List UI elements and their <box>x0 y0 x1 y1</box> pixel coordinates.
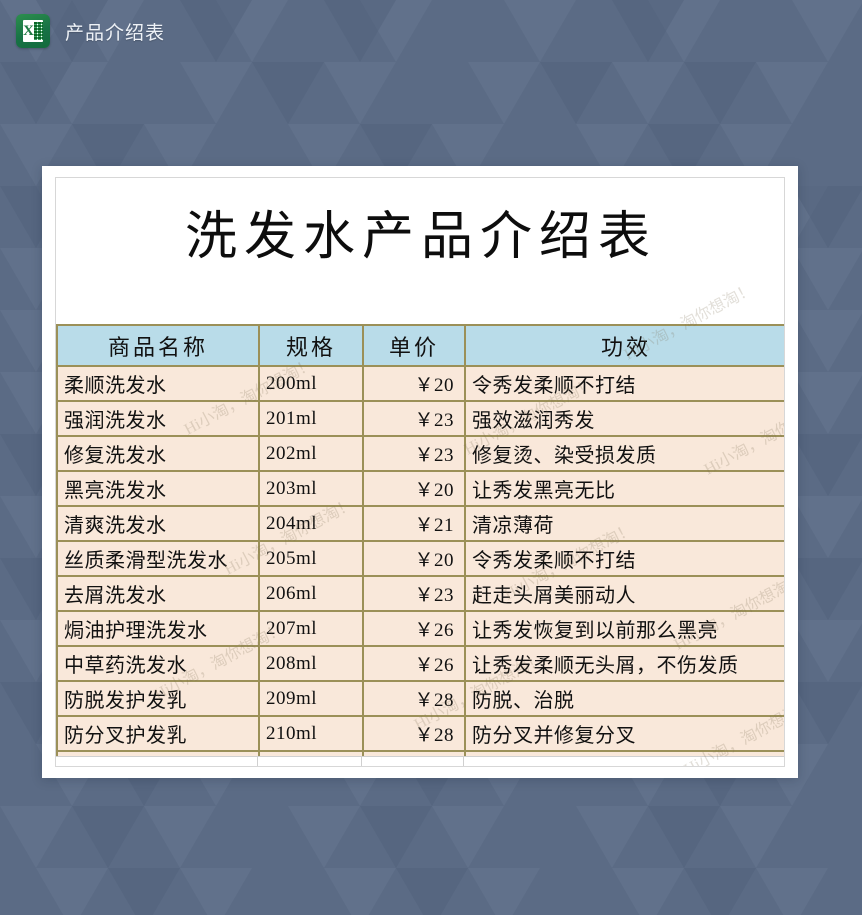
window-titlebar: X 产品介绍表 <box>0 0 862 62</box>
cell-name[interactable]: 去屑洗发水 <box>57 576 259 611</box>
cell-price[interactable]: ￥20 <box>363 366 465 401</box>
cell-name[interactable]: 强润洗发水 <box>57 401 259 436</box>
cell-func[interactable]: 清凉薄荷 <box>465 506 785 541</box>
table-header-row: 商品名称 规格 单价 功效 <box>57 325 785 366</box>
empty-cell[interactable] <box>56 757 258 767</box>
cell-spec[interactable]: 205ml <box>259 541 363 576</box>
empty-sheet-row[interactable] <box>56 756 785 767</box>
cell-price[interactable]: ￥28 <box>363 716 465 751</box>
cell-name[interactable]: 黑亮洗发水 <box>57 471 259 506</box>
cell-spec[interactable]: 208ml <box>259 646 363 681</box>
cell-spec[interactable]: 210ml <box>259 716 363 751</box>
cell-price[interactable]: ￥26 <box>363 611 465 646</box>
cell-name[interactable]: 柔顺洗发水 <box>57 366 259 401</box>
spreadsheet-sheet: Hi小淘，淘你想淘！ Hi小淘，淘你想淘！ Hi小淘，淘你想淘！ Hi小淘，淘你… <box>55 177 785 767</box>
cell-name[interactable]: 防脱发护发乳 <box>57 681 259 716</box>
cell-func[interactable]: 防脱、治脱 <box>465 681 785 716</box>
cell-name[interactable]: 防分叉护发乳 <box>57 716 259 751</box>
table-row[interactable]: 修复洗发水202ml￥23修复烫、染受损发质 <box>57 436 785 471</box>
cell-spec[interactable]: 209ml <box>259 681 363 716</box>
cell-spec[interactable]: 200ml <box>259 366 363 401</box>
cell-price[interactable]: ￥28 <box>363 681 465 716</box>
table-row[interactable]: 焗油护理洗发水207ml￥26让秀发恢复到以前那么黑亮 <box>57 611 785 646</box>
table-row[interactable]: 防脱发护发乳209ml￥28防脱、治脱 <box>57 681 785 716</box>
table-row[interactable]: 清爽洗发水204ml￥21清凉薄荷 <box>57 506 785 541</box>
cell-price[interactable]: ￥20 <box>363 541 465 576</box>
page-title: 产品介绍表 <box>65 18 165 45</box>
cell-func[interactable]: 修复烫、染受损发质 <box>465 436 785 471</box>
cell-func[interactable]: 令秀发柔顺不打结 <box>465 366 785 401</box>
cell-func[interactable]: 强效滋润秀发 <box>465 401 785 436</box>
cell-price[interactable]: ￥23 <box>363 401 465 436</box>
table-row[interactable]: 防分叉护发乳210ml￥28防分叉并修复分叉 <box>57 716 785 751</box>
empty-cell[interactable] <box>258 757 362 767</box>
table-row[interactable]: 丝质柔滑型洗发水205ml￥20令秀发柔顺不打结 <box>57 541 785 576</box>
table-row[interactable]: 去屑洗发水206ml￥23赶走头屑美丽动人 <box>57 576 785 611</box>
product-table: 商品名称 规格 单价 功效 柔顺洗发水200ml￥20令秀发柔顺不打结强润洗发水… <box>56 324 785 767</box>
cell-spec[interactable]: 206ml <box>259 576 363 611</box>
table-row[interactable]: 强润洗发水201ml￥23强效滋润秀发 <box>57 401 785 436</box>
document-card: Hi小淘，淘你想淘！ Hi小淘，淘你想淘！ Hi小淘，淘你想淘！ Hi小淘，淘你… <box>42 166 798 778</box>
column-header-spec: 规格 <box>259 325 363 366</box>
cell-spec[interactable]: 204ml <box>259 506 363 541</box>
cell-func[interactable]: 让秀发黑亮无比 <box>465 471 785 506</box>
cell-func[interactable]: 让秀发柔顺无头屑，不伤发质 <box>465 646 785 681</box>
cell-price[interactable]: ￥21 <box>363 506 465 541</box>
cell-price[interactable]: ￥23 <box>363 576 465 611</box>
empty-cell[interactable] <box>362 757 464 767</box>
table-row[interactable]: 柔顺洗发水200ml￥20令秀发柔顺不打结 <box>57 366 785 401</box>
cell-price[interactable]: ￥20 <box>363 471 465 506</box>
table-row[interactable]: 黑亮洗发水203ml￥20让秀发黑亮无比 <box>57 471 785 506</box>
cell-price[interactable]: ￥23 <box>363 436 465 471</box>
cell-name[interactable]: 修复洗发水 <box>57 436 259 471</box>
cell-price[interactable]: ￥26 <box>363 646 465 681</box>
cell-name[interactable]: 焗油护理洗发水 <box>57 611 259 646</box>
table-row[interactable]: 中草药洗发水208ml￥26让秀发柔顺无头屑，不伤发质 <box>57 646 785 681</box>
cell-func[interactable]: 赶走头屑美丽动人 <box>465 576 785 611</box>
sheet-title: 洗发水产品介绍表 <box>56 206 785 270</box>
cell-spec[interactable]: 202ml <box>259 436 363 471</box>
column-header-name: 商品名称 <box>57 325 259 366</box>
column-header-price: 单价 <box>363 325 465 366</box>
cell-spec[interactable]: 207ml <box>259 611 363 646</box>
cell-func[interactable]: 让秀发恢复到以前那么黑亮 <box>465 611 785 646</box>
cell-name[interactable]: 中草药洗发水 <box>57 646 259 681</box>
cell-name[interactable]: 丝质柔滑型洗发水 <box>57 541 259 576</box>
empty-cell[interactable] <box>464 757 785 767</box>
cell-spec[interactable]: 201ml <box>259 401 363 436</box>
cell-name[interactable]: 清爽洗发水 <box>57 506 259 541</box>
cell-func[interactable]: 令秀发柔顺不打结 <box>465 541 785 576</box>
cell-spec[interactable]: 203ml <box>259 471 363 506</box>
cell-func[interactable]: 防分叉并修复分叉 <box>465 716 785 751</box>
column-header-func: 功效 <box>465 325 785 366</box>
excel-icon: X <box>16 14 50 48</box>
